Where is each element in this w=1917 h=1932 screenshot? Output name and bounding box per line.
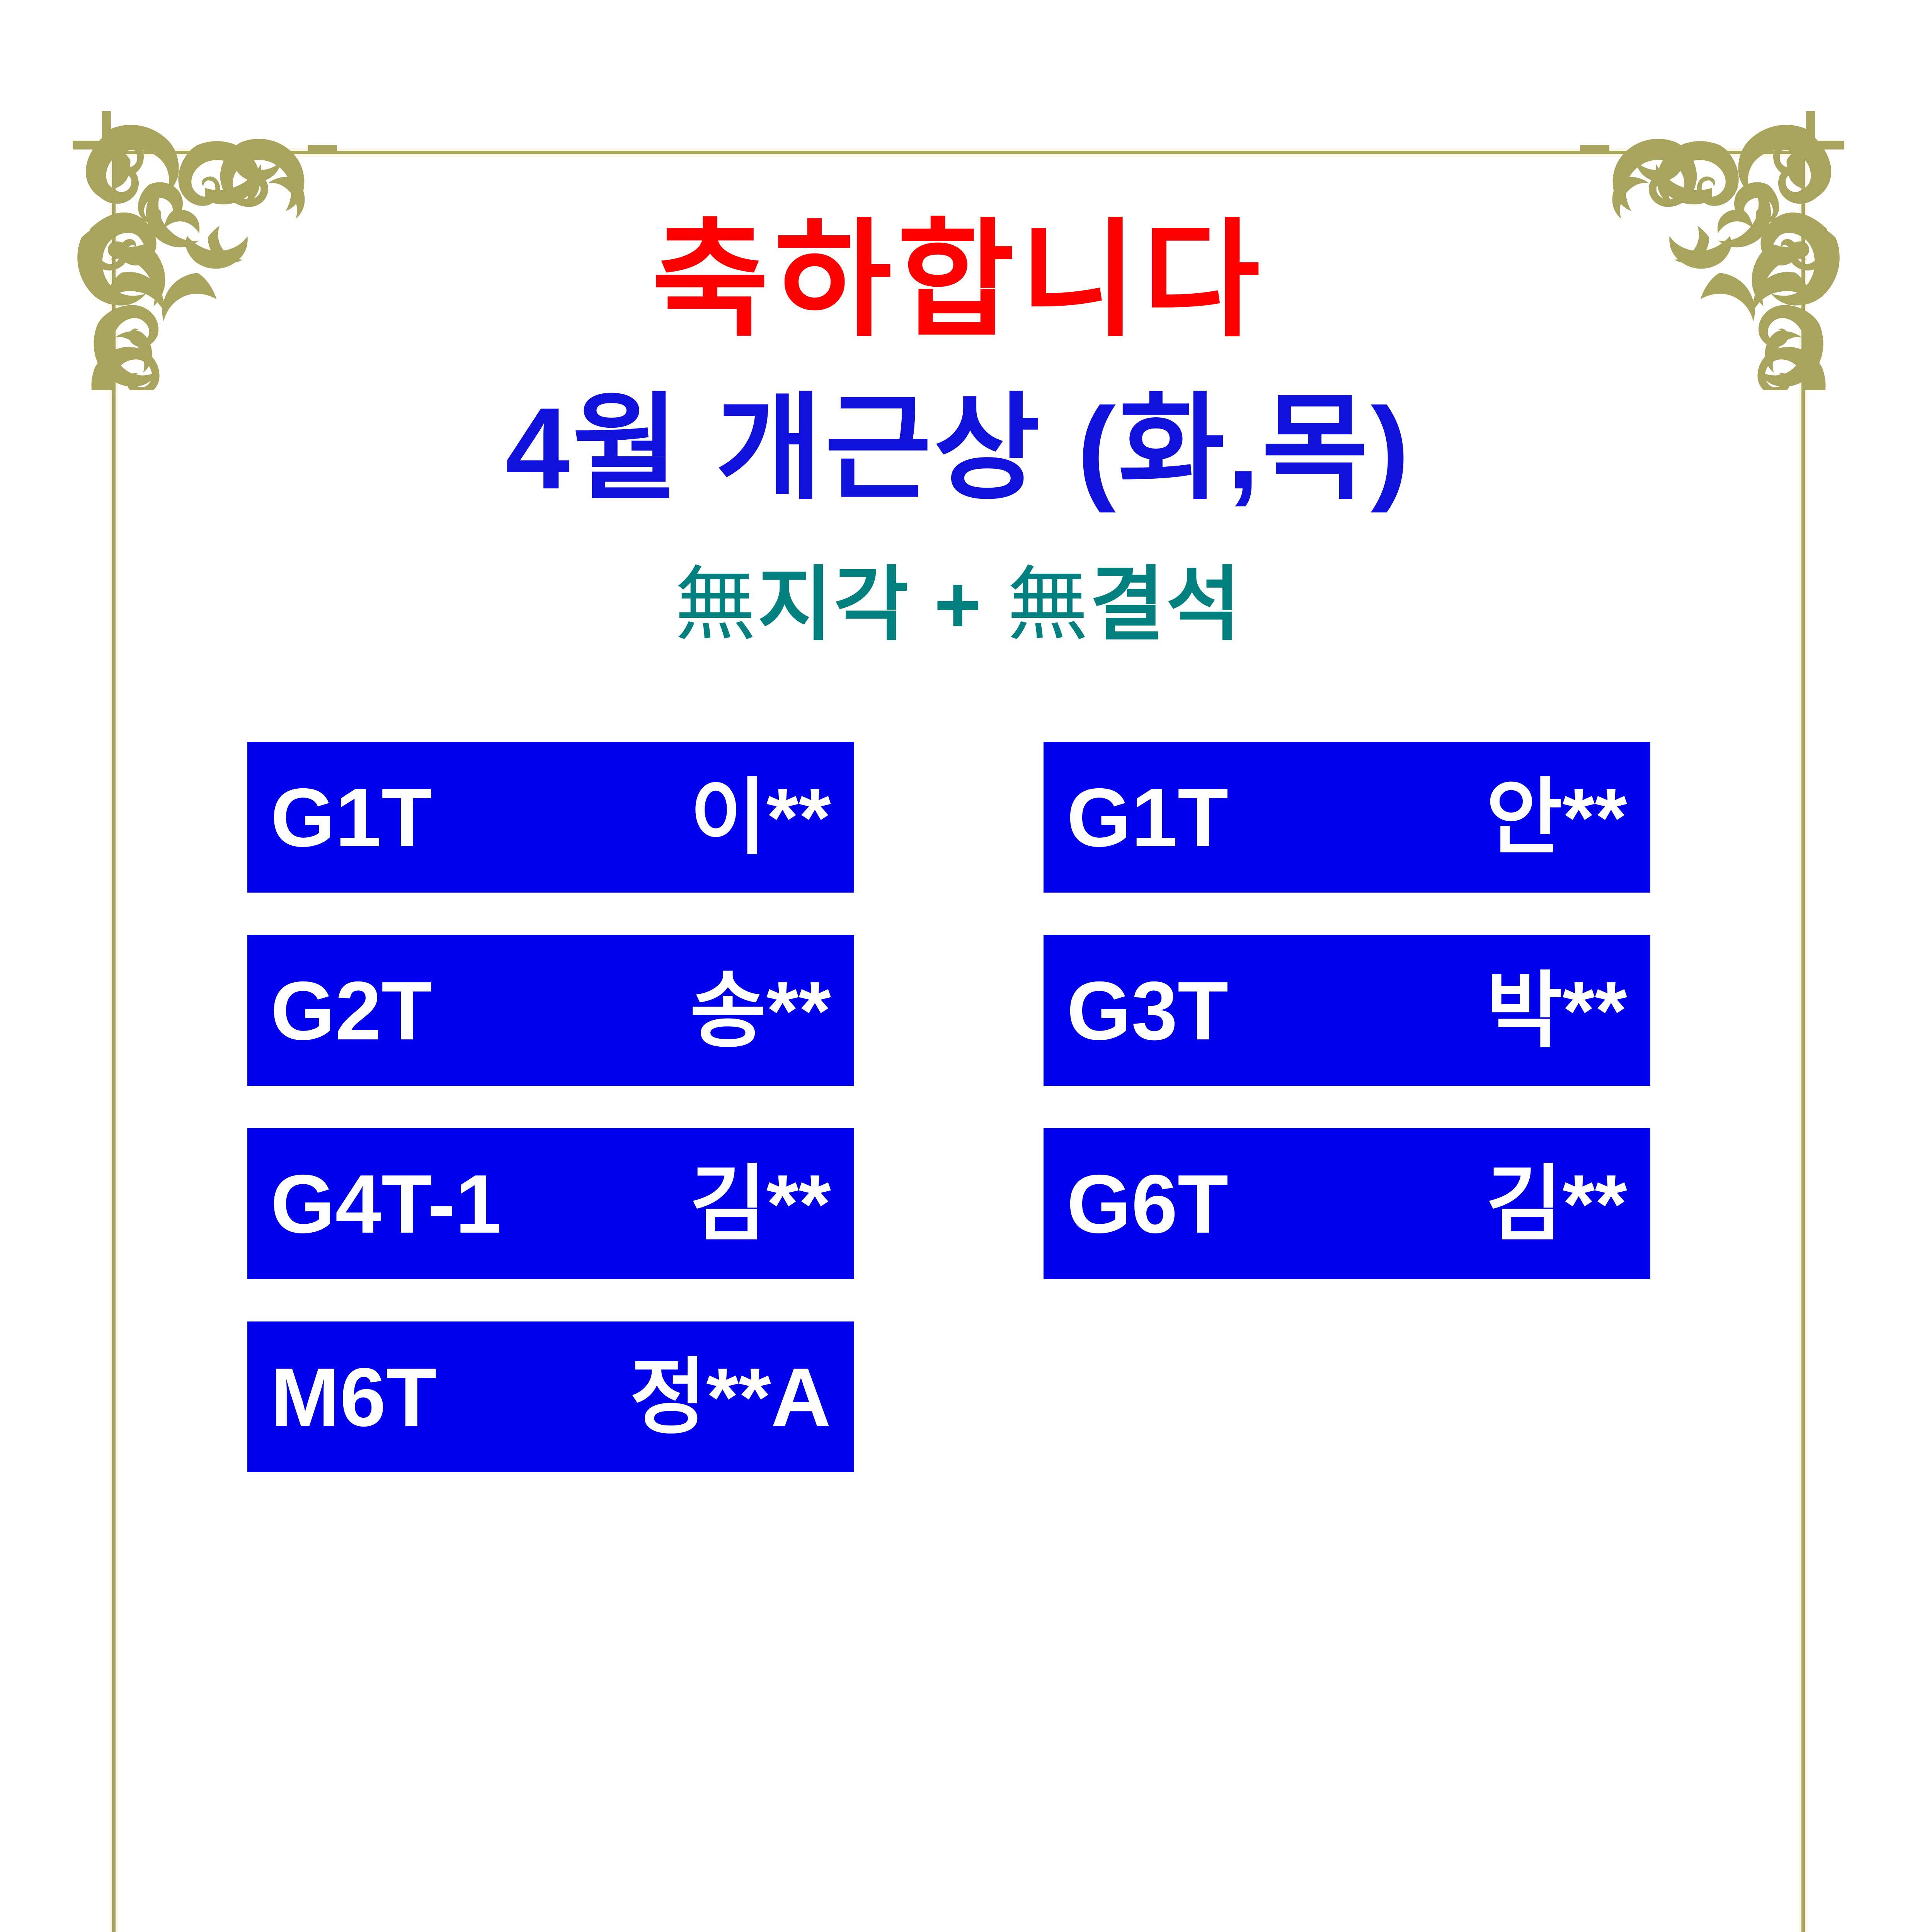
award-recipient-box: G1T 이** xyxy=(247,742,854,893)
award-class-label: G2T xyxy=(271,969,432,1052)
award-student-name: 김** xyxy=(1486,1162,1627,1245)
award-recipient-box: G1T 안** xyxy=(1044,742,1650,893)
award-cell-empty xyxy=(1044,1321,1650,1515)
poster-content: 축하합니다 4월 개근상 (화,목) 無지각 + 無결석 G1T 이** G1T… xyxy=(0,0,1917,1932)
award-class-label: G3T xyxy=(1067,969,1228,1052)
award-class-label: M6T xyxy=(271,1355,437,1439)
award-recipient-box: G2T 송** xyxy=(247,935,854,1086)
award-cell: M6T 정**A xyxy=(247,1321,854,1515)
award-recipients-grid: G1T 이** G1T 안** G2T 송** G3T 박** G4T- xyxy=(247,742,1670,1515)
award-student-name: 안** xyxy=(1486,776,1627,859)
criteria-no-absence: 결석 xyxy=(1090,559,1242,650)
award-cell: G6T 김** xyxy=(1044,1128,1650,1321)
award-cell: G1T 안** xyxy=(1044,742,1650,935)
award-class-label: G1T xyxy=(271,776,432,859)
award-student-name: 송** xyxy=(690,969,831,1052)
award-class-label: G4T-1 xyxy=(271,1162,501,1245)
award-student-name: 박** xyxy=(1486,969,1627,1052)
page-title-congratulations: 축하합니다 xyxy=(652,216,1265,344)
award-recipient-box: M6T 정**A xyxy=(247,1321,854,1472)
award-student-name: 이** xyxy=(690,776,831,859)
award-cell: G1T 이** xyxy=(247,742,854,935)
award-class-label: G1T xyxy=(1067,776,1228,859)
criteria-plus-sign: + xyxy=(934,559,983,650)
award-title: 4월 개근상 (화,목) xyxy=(506,390,1412,506)
award-recipient-box: G3T 박** xyxy=(1044,935,1650,1086)
award-class-label: G6T xyxy=(1067,1162,1228,1245)
kanji-mu-icon-1: 無 xyxy=(675,557,758,652)
award-student-name: 김** xyxy=(690,1162,831,1245)
award-cell: G4T-1 김** xyxy=(247,1128,854,1321)
criteria-no-tardy: 지각 xyxy=(758,559,910,650)
award-criteria: 無지각 + 無결석 xyxy=(675,564,1242,645)
award-cell: G2T 송** xyxy=(247,935,854,1128)
kanji-mu-icon-2: 無 xyxy=(1007,557,1090,652)
award-recipient-box: G4T-1 김** xyxy=(247,1128,854,1279)
award-recipient-box: G6T 김** xyxy=(1044,1128,1650,1279)
award-cell: G3T 박** xyxy=(1044,935,1650,1128)
award-student-name: 정**A xyxy=(630,1355,831,1439)
